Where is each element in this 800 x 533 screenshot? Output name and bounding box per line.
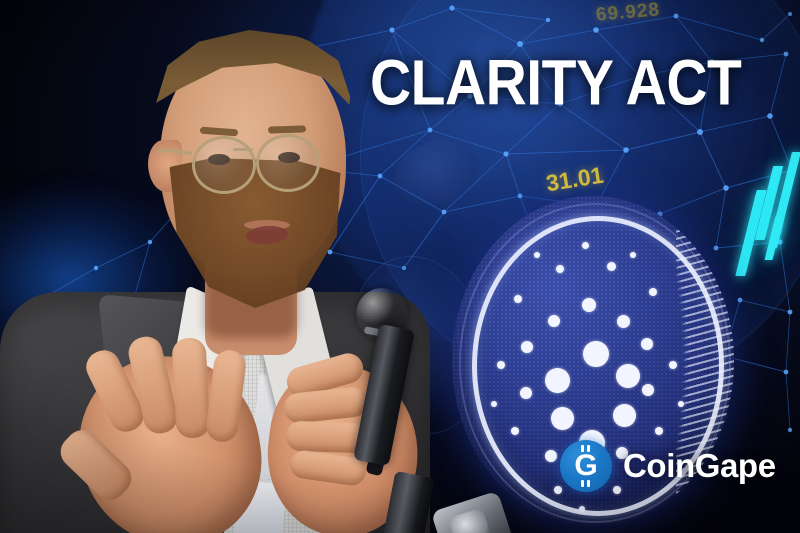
eyebrow-right	[268, 125, 306, 133]
eyeglasses-bridge	[233, 148, 253, 151]
logo-letter-g: G	[560, 440, 612, 492]
thumbnail-image: CLARITY ACT 31.01 69.928 G CoinGape	[0, 0, 800, 533]
eyeglasses-right-lens	[256, 134, 320, 192]
eyeglasses-left-lens	[192, 136, 256, 194]
coingape-wordmark: CoinGape	[623, 447, 776, 485]
coingape-logo[interactable]: G CoinGape	[560, 440, 776, 492]
coingape-logo-mark: G	[560, 440, 612, 492]
headline-text: CLARITY ACT	[370, 52, 741, 116]
finger	[171, 337, 210, 439]
